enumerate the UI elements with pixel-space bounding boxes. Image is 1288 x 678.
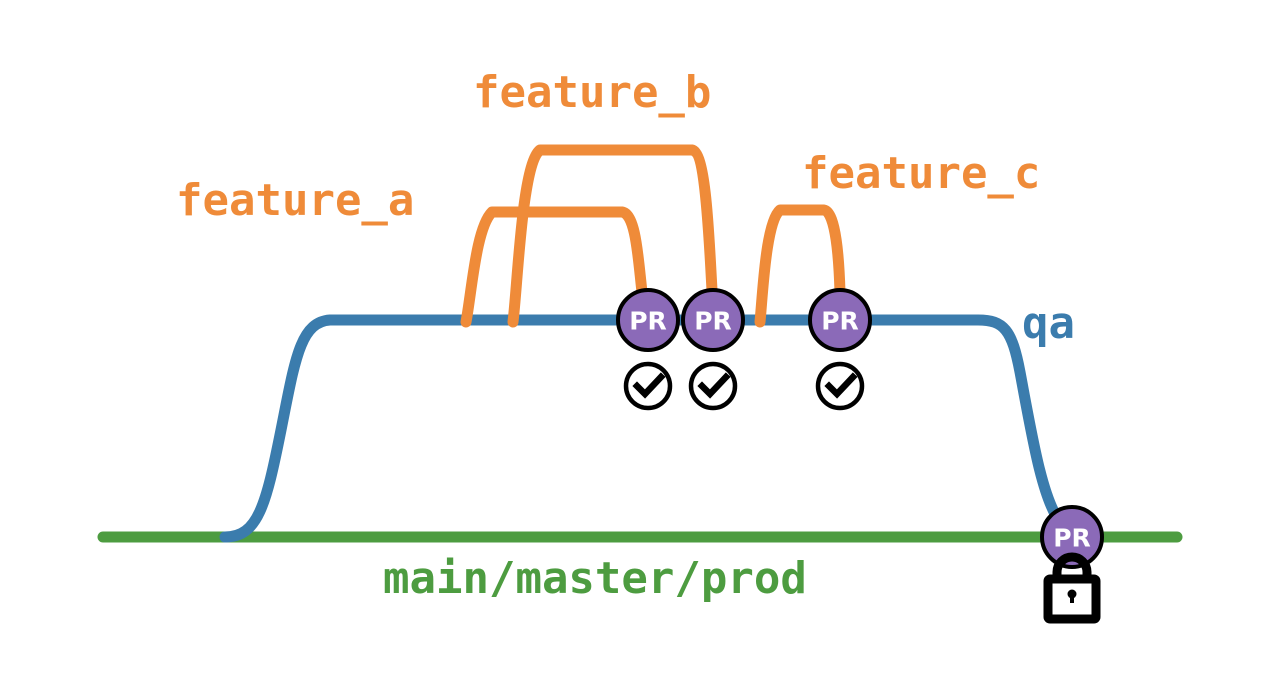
branch-label-feature-b: feature_b — [473, 67, 711, 118]
pr-node-label: PR — [629, 307, 667, 336]
git-flow-diagram: feature_a feature_b feature_c qa main/ma… — [0, 0, 1288, 678]
branch-line-qa — [225, 320, 1060, 537]
pr-node-label: PR — [821, 307, 859, 336]
lock-keyhole-stem — [1070, 594, 1074, 603]
branch-label-feature-a: feature_a — [176, 175, 414, 226]
check-circle-icon — [691, 364, 735, 408]
pr-node-label: PR — [1053, 524, 1091, 553]
branch-label-main: main/master/prod — [383, 553, 807, 604]
git-flow-canvas: feature_a feature_b feature_c qa main/ma… — [0, 0, 1288, 678]
check-circle-icon — [626, 364, 670, 408]
pr-node-feature-b[interactable]: PR — [683, 290, 743, 350]
pr-node-feature-a[interactable]: PR — [618, 290, 678, 350]
branch-label-feature-c: feature_c — [802, 148, 1040, 199]
pr-node-label: PR — [694, 307, 732, 336]
branch-label-qa: qa — [1022, 298, 1075, 349]
pr-node-feature-c[interactable]: PR — [810, 290, 870, 350]
check-circle-icon — [818, 364, 862, 408]
branch-line-feature-b — [513, 150, 712, 322]
branch-line-feature-a — [466, 212, 642, 322]
